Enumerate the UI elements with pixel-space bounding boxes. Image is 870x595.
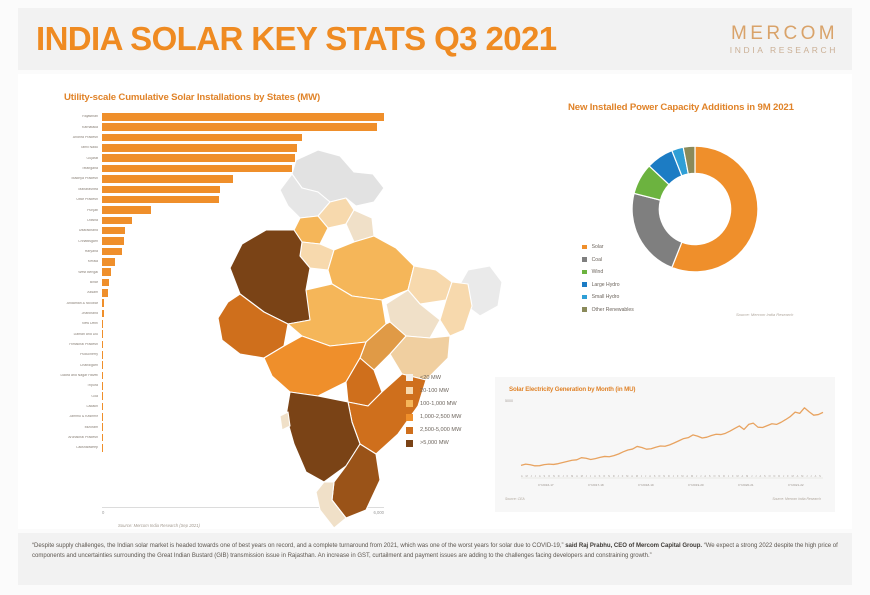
line-month-tick: J (535, 475, 536, 478)
map-legend-label: 1,000-2,500 MW (420, 414, 461, 420)
bar-row-label: Jammu & Kashmir (40, 415, 102, 419)
line-month-tick: J (696, 475, 697, 478)
india-choropleth-map (168, 144, 508, 534)
line-year-label: FY2021-22 (771, 483, 821, 487)
line-month-tick: S (764, 475, 766, 478)
line-month-tick: S (654, 475, 656, 478)
line-chart-source-right: Source: Mercom India Research (772, 497, 821, 501)
bar-row-label: Chhattisgarh (40, 240, 102, 244)
line-month-tick: S (544, 475, 546, 478)
bar-row-label: Dadra and Nagar Haveli (40, 374, 102, 378)
line-month-tick: J (751, 475, 752, 478)
line-month-tick: O (658, 475, 660, 478)
bar-row-fill (102, 258, 115, 266)
line-month-tick: J (590, 475, 591, 478)
footer-quote: “Despite supply challenges, the Indian s… (32, 542, 838, 562)
bar-row-label: Lakshadweep (40, 446, 102, 450)
line-month-tick: A (521, 475, 523, 478)
line-month-tick: F (677, 475, 679, 478)
line-month-tick: J (700, 475, 701, 478)
line-month-tick: A (631, 475, 633, 478)
bar-row-fill (102, 206, 151, 214)
line-month-tick: F (787, 475, 789, 478)
map-legend-item: 1,000-2,500 MW (406, 414, 461, 421)
map-legend-item: 100-1,000 MW (406, 400, 461, 407)
bar-row-label: Tripura (40, 384, 102, 388)
bar-row-label: Karnataka (40, 126, 102, 130)
donut-legend-label: Small Hydro (592, 294, 620, 300)
bar-row-label: Andhra Pradesh (40, 136, 102, 140)
bar-row-fill (102, 320, 103, 328)
donut-legend-swatch (582, 245, 587, 250)
line-month-tick: J (531, 475, 532, 478)
bar-row-label: Daman and Diu (40, 333, 102, 337)
line-month-tick: M (746, 475, 748, 478)
line-year-label: FY2020-21 (721, 483, 771, 487)
map-legend-label: 100-1,000 MW (420, 401, 457, 407)
line-year-label: FY2018-19 (621, 483, 671, 487)
line-month-tick: J (806, 475, 807, 478)
line-month-tick: O (603, 475, 605, 478)
bar-row-fill (102, 289, 108, 297)
bar-row-label: Haryana (40, 250, 102, 254)
line-month-tick: M (526, 475, 528, 478)
line-month-tick: J (783, 475, 784, 478)
map-legend-swatch (406, 427, 413, 434)
brand-name: MERCOM (730, 24, 838, 44)
bar-row-label: Goa (40, 395, 102, 399)
donut-chart-svg (610, 124, 780, 294)
line-chart-month-ticks: AMJJASONDJFMAMJJASONDJFMAMJJASONDJFMAMJJ… (521, 475, 821, 478)
line-month-tick: D (558, 475, 560, 478)
map-legend-label: 20-100 MW (420, 388, 449, 394)
donut-legend-swatch (582, 257, 587, 262)
donut-legend-swatch (582, 282, 587, 287)
brand-tagline: INDIA RESEARCH (730, 46, 838, 55)
line-month-tick: A (742, 475, 744, 478)
map-legend-swatch (406, 414, 413, 421)
bar-row-label: Himachal Pradesh (40, 343, 102, 347)
donut-chart-panel: New Installed Power Capacity Additions i… (540, 102, 840, 332)
bar-row-label: Mizoram (40, 426, 102, 430)
line-month-tick: M (581, 475, 583, 478)
line-chart-source-left: Source: CEA (505, 497, 525, 501)
bar-row-fill (102, 279, 109, 287)
donut-chart-title: New Installed Power Capacity Additions i… (568, 102, 794, 113)
bar-row-fill (102, 268, 111, 276)
map-legend-label: >5,000 MW (420, 440, 449, 446)
line-month-tick: M (792, 475, 794, 478)
line-year-label: FY2016-17 (521, 483, 571, 487)
line-month-tick: J (755, 475, 756, 478)
bar-row-label: Jharkhand (40, 312, 102, 316)
map-legend-label: 2,500-5,000 MW (420, 427, 461, 433)
bar-row-label: Punjab (40, 209, 102, 213)
bar-row-label: Kerala (40, 260, 102, 264)
line-month-tick: M (571, 475, 573, 478)
line-month-tick: S (819, 475, 821, 478)
bar-row-label: Assam (40, 291, 102, 295)
bar-row-track (102, 133, 410, 143)
donut-chart-legend: SolarCoalWindLarge HydroSmall HydroOther… (582, 244, 634, 319)
line-month-tick: J (618, 475, 619, 478)
bar-row-label: Uttarakhand (40, 229, 102, 233)
bar-row-fill (102, 372, 103, 380)
line-month-tick: N (553, 475, 555, 478)
bar-row-label: Andaman & Nicobar (40, 302, 102, 306)
line-month-tick: M (801, 475, 803, 478)
line-month-tick: A (594, 475, 596, 478)
bar-row-label: Tamil Nadu (40, 146, 102, 150)
line-month-tick: S (709, 475, 711, 478)
line-month-tick: J (641, 475, 642, 478)
map-legend-item: 20-100 MW (406, 387, 461, 394)
bar-row-fill (102, 134, 302, 142)
line-month-tick: N (663, 475, 665, 478)
bar-row-fill (102, 361, 103, 369)
bar-row-fill (102, 330, 103, 338)
brand-logo: MERCOM INDIA RESEARCH (730, 24, 838, 55)
bar-row-fill (102, 123, 377, 131)
map-legend-swatch (406, 374, 413, 381)
bar-row-label: Rajasthan (40, 115, 102, 119)
bar-row-fill (102, 217, 132, 225)
bar-row: Karnataka (40, 122, 410, 132)
bar-row-fill (102, 299, 104, 307)
line-month-tick: M (626, 475, 628, 478)
donut-legend-item: Small Hydro (582, 294, 634, 300)
donut-legend-swatch (582, 295, 587, 300)
line-month-tick: O (769, 475, 771, 478)
donut-legend-swatch (582, 270, 587, 275)
bar-row-label: Madhya Pradesh (40, 177, 102, 181)
line-chart-panel: Solar Electricity Generation by Month (i… (495, 377, 835, 512)
line-month-tick: D (723, 475, 725, 478)
infographic-page: INDIA SOLAR KEY STATS Q3 2021 MERCOM IND… (0, 0, 870, 595)
bar-row-label: Gujarat (40, 157, 102, 161)
line-month-tick: J (728, 475, 729, 478)
bar-row-fill (102, 113, 384, 121)
donut-legend-item: Other Renewables (582, 307, 634, 313)
line-month-tick: D (778, 475, 780, 478)
bar-row-label: Puducherry (40, 353, 102, 357)
bar-row-fill (102, 351, 103, 359)
donut-legend-label: Wind (592, 269, 604, 275)
bar-row-fill (102, 341, 103, 349)
main-canvas: Utility-scale Cumulative Solar Installat… (18, 74, 852, 529)
map-legend-swatch (406, 440, 413, 447)
line-month-tick: D (613, 475, 615, 478)
line-month-tick: J (586, 475, 587, 478)
map-legend-swatch (406, 387, 413, 394)
line-month-tick: O (548, 475, 550, 478)
line-month-tick: N (608, 475, 610, 478)
line-chart-title: Solar Electricity Generation by Month (i… (509, 386, 635, 393)
quote-attribution: said Raj Prabhu, CEO of Mercom Capital G… (565, 543, 702, 549)
bar-row-fill (102, 248, 122, 256)
line-month-tick: A (576, 475, 578, 478)
donut-legend-item: Wind (582, 269, 634, 275)
line-month-tick: M (691, 475, 693, 478)
donut-chart-source: Source: Mercom India Research (736, 312, 793, 317)
line-chart-year-labels: FY2016-17FY2017-18FY2018-19FY2019-20FY20… (521, 483, 821, 487)
donut-legend-item: Large Hydro (582, 282, 634, 288)
map-legend-item: >5,000 MW (406, 440, 461, 447)
line-month-tick: F (732, 475, 734, 478)
line-month-tick: S (599, 475, 601, 478)
line-month-tick: J (810, 475, 811, 478)
line-month-tick: J (645, 475, 646, 478)
line-month-tick: M (681, 475, 683, 478)
bar-row-fill (102, 310, 104, 318)
map-legend: <20 MW20-100 MW100-1,000 MW1,000-2,500 M… (406, 374, 461, 453)
bar-row-label: Arunachal Pradesh (40, 436, 102, 440)
line-month-tick: A (686, 475, 688, 478)
line-month-tick: M (736, 475, 738, 478)
donut-legend-item: Coal (582, 257, 634, 263)
donut-legend-swatch (582, 307, 587, 312)
bar-row-label: Ladakh (40, 405, 102, 409)
line-chart-series (521, 408, 823, 466)
line-month-tick: A (815, 475, 817, 478)
line-month-tick: N (718, 475, 720, 478)
line-month-tick: A (797, 475, 799, 478)
line-month-tick: A (539, 475, 541, 478)
bar-axis-tick: 0 (102, 510, 104, 515)
donut-legend-label: Coal (592, 257, 602, 263)
map-legend-label: <20 MW (420, 375, 441, 381)
bar-row-label: New Delhi (40, 322, 102, 326)
map-legend-swatch (406, 400, 413, 407)
donut-legend-label: Large Hydro (592, 282, 620, 288)
bar-chart-title: Utility-scale Cumulative Solar Installat… (64, 92, 320, 103)
bar-row-track (102, 122, 410, 132)
bar-row-label: West Bengal (40, 271, 102, 275)
line-month-tick: J (562, 475, 563, 478)
line-year-label: FY2017-18 (571, 483, 621, 487)
line-year-label: FY2019-20 (671, 483, 721, 487)
line-month-tick: F (622, 475, 624, 478)
line-month-tick: A (704, 475, 706, 478)
line-month-tick: A (649, 475, 651, 478)
line-month-tick: M (636, 475, 638, 478)
donut-legend-label: Other Renewables (592, 307, 634, 313)
quote-part-1: “Despite supply challenges, the Indian s… (32, 543, 565, 549)
map-legend-item: 2,500-5,000 MW (406, 427, 461, 434)
bar-row-label: Bihar (40, 281, 102, 285)
line-month-tick: A (759, 475, 761, 478)
header-band: INDIA SOLAR KEY STATS Q3 2021 MERCOM IND… (18, 8, 852, 70)
line-month-tick: N (774, 475, 776, 478)
donut-slice (632, 193, 682, 267)
map-region-goa (280, 412, 290, 430)
bar-row-label: Uttar Pradesh (40, 198, 102, 202)
line-month-tick: D (668, 475, 670, 478)
donut-legend-label: Solar (592, 244, 604, 250)
donut-legend-item: Solar (582, 244, 634, 250)
line-month-tick: F (567, 475, 569, 478)
bar-row-label: Telangana (40, 167, 102, 171)
page-title: INDIA SOLAR KEY STATS Q3 2021 (36, 20, 557, 58)
map-legend-item: <20 MW (406, 374, 461, 381)
bar-row-fill (102, 237, 124, 245)
bar-row-label: Chandigarh (40, 364, 102, 368)
bar-row: Andhra Pradesh (40, 133, 410, 143)
line-chart-svg (503, 397, 829, 482)
bar-row-label: Maharashtra (40, 188, 102, 192)
footer-band: “Despite supply challenges, the Indian s… (18, 533, 852, 585)
bar-row-track (102, 112, 410, 122)
bar-row: Rajasthan (40, 112, 410, 122)
bar-row-label: Odisha (40, 219, 102, 223)
line-month-tick: J (673, 475, 674, 478)
line-month-tick: O (714, 475, 716, 478)
bar-row-fill (102, 227, 125, 235)
